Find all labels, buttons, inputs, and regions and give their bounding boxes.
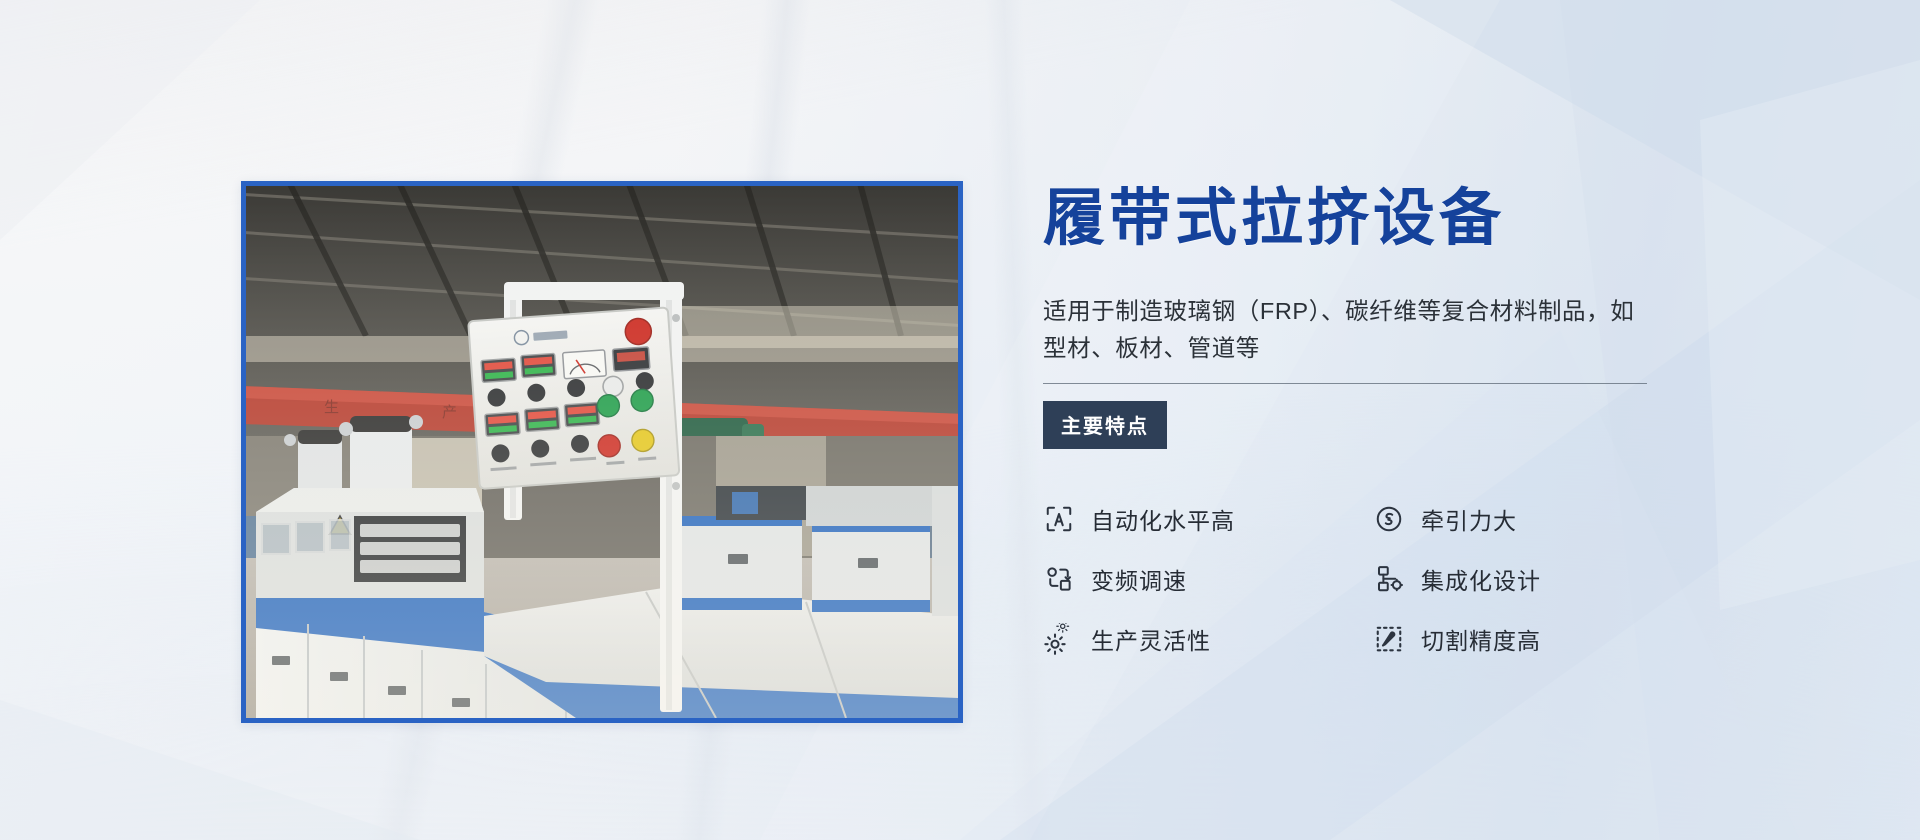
cut-precision-pen-icon <box>1373 623 1405 655</box>
content-divider <box>1043 383 1647 384</box>
badge-row: 主要特点 <box>1043 401 1663 449</box>
frequency-nodes-icon <box>1043 563 1075 595</box>
gears-icon <box>1043 623 1075 655</box>
feature-label: 集成化设计 <box>1421 562 1541 596</box>
integrated-design-nodes-icon <box>1373 563 1405 595</box>
banner-content: 履带式拉挤设备 适用于制造玻璃钢（FRP）、碳纤维等复合材料制品，如型材、板材、… <box>1043 186 1663 669</box>
product-description: 适用于制造玻璃钢（FRP）、碳纤维等复合材料制品，如型材、板材、管道等 <box>1043 293 1643 367</box>
feature-item-cut-precision[interactable]: 切割精度高 <box>1373 622 1703 656</box>
feature-label: 生产灵活性 <box>1091 622 1211 656</box>
feature-item-traction[interactable]: 牵引力大 <box>1373 502 1703 536</box>
feature-item-integrated-design[interactable]: 集成化设计 <box>1373 562 1703 596</box>
feature-item-flexibility[interactable]: 生产灵活性 <box>1043 622 1373 656</box>
feature-label: 自动化水平高 <box>1091 502 1235 536</box>
traction-wave-circle-icon <box>1373 503 1405 535</box>
feature-label: 切割精度高 <box>1421 622 1541 656</box>
feature-item-frequency[interactable]: 变频调速 <box>1043 562 1373 596</box>
product-banner: 生 产 安 全 <box>0 0 1920 840</box>
product-title: 履带式拉挤设备 <box>1043 186 1663 253</box>
feature-label: 牵引力大 <box>1421 502 1517 536</box>
feature-label: 变频调速 <box>1091 562 1187 596</box>
feature-item-automation[interactable]: 自动化水平高 <box>1043 502 1373 536</box>
product-photo: 生 产 安 全 <box>246 186 958 718</box>
feature-list: 自动化水平高 牵引力大 <box>1043 489 1663 669</box>
letter-a-in-frame-icon <box>1043 503 1075 535</box>
main-features-badge: 主要特点 <box>1043 401 1167 449</box>
product-photo-frame[interactable]: 生 产 安 全 <box>241 181 963 723</box>
